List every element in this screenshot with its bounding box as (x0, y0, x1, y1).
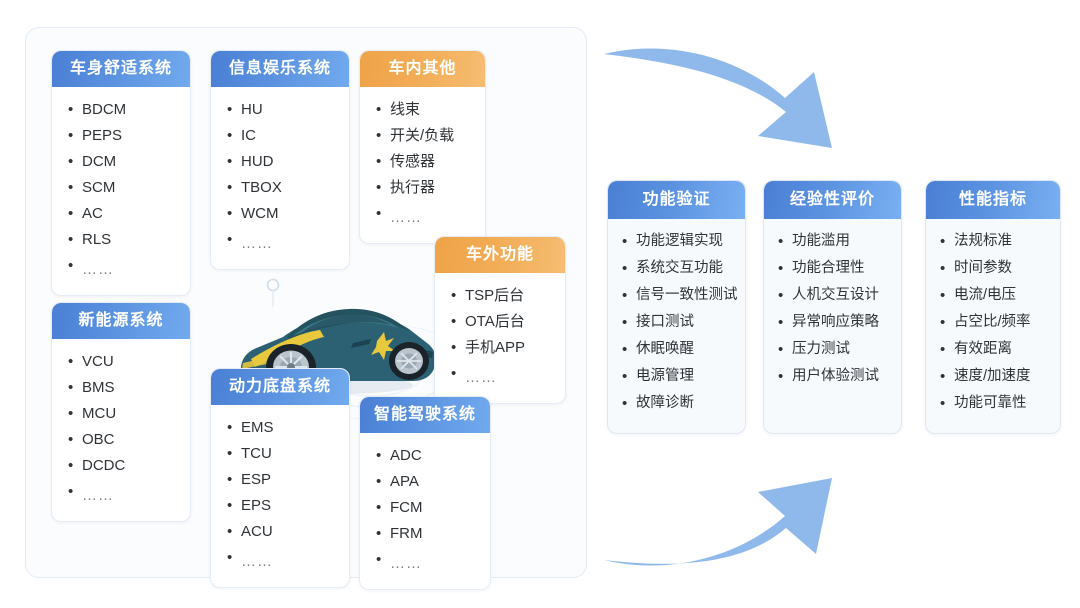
card-function-verification[interactable]: 功能验证 功能逻辑实现 系统交互功能 信号一致性测试 接口测试 休眠唤醒 电源管… (607, 180, 746, 434)
card-title-intelligent-driving: 智能驾驶系统 (360, 397, 490, 433)
list-item: 法规标准 (938, 228, 1060, 255)
list-item: 异常响应策略 (776, 309, 901, 336)
card-body-list-experiential-evaluation: 功能滥用 功能合理性 人机交互设计 异常响应策略 压力测试 用户体验测试 (764, 219, 901, 402)
list-item: 开关/负载 (374, 123, 485, 149)
list-item: 系统交互功能 (620, 255, 745, 282)
list-item: FRM (374, 521, 490, 547)
card-title-function-verification: 功能验证 (608, 181, 745, 219)
list-item: 传感器 (374, 149, 485, 175)
list-item: OTA后台 (449, 309, 565, 335)
list-item: HUD (225, 149, 349, 175)
card-title-powertrain-chassis: 动力底盘系统 (211, 369, 349, 405)
list-item: 功能逻辑实现 (620, 228, 745, 255)
card-in-car-other[interactable]: 车内其他 线束 开关/负载 传感器 执行器 …… (359, 50, 486, 244)
list-item-ellipsis: …… (449, 361, 565, 391)
list-item: 手机APP (449, 335, 565, 361)
list-item: 执行器 (374, 175, 485, 201)
list-item: BDCM (66, 97, 190, 123)
list-item: PEPS (66, 123, 190, 149)
list-item: HU (225, 97, 349, 123)
curved-arrow-top-right-icon (600, 32, 870, 162)
list-item: 线束 (374, 97, 485, 123)
list-item: VCU (66, 349, 190, 375)
card-title-outside-car-function: 车外功能 (435, 237, 565, 273)
card-body-list-function-verification: 功能逻辑实现 系统交互功能 信号一致性测试 接口测试 休眠唤醒 电源管理 故障诊… (608, 219, 745, 429)
list-item: ACU (225, 519, 349, 545)
list-item: TCU (225, 441, 349, 467)
list-item: FCM (374, 495, 490, 521)
list-item: 用户体验测试 (776, 363, 901, 390)
card-body-list-powertrain-chassis: EMS TCU ESP EPS ACU …… (211, 405, 349, 587)
vehicle-system-panel: 车身舒适系统 BDCM PEPS DCM SCM AC RLS …… 信息娱乐系… (25, 27, 587, 578)
card-body-comfort[interactable]: 车身舒适系统 BDCM PEPS DCM SCM AC RLS …… (51, 50, 191, 296)
list-item: 故障诊断 (620, 390, 745, 417)
card-title-performance-metrics: 性能指标 (926, 181, 1060, 219)
list-item-ellipsis: …… (374, 201, 485, 231)
list-item: TBOX (225, 175, 349, 201)
list-item: 速度/加速度 (938, 363, 1060, 390)
list-item-ellipsis: …… (66, 479, 190, 509)
list-item: 电源管理 (620, 363, 745, 390)
card-body-list-new-energy: VCU BMS MCU OBC DCDC …… (52, 339, 190, 521)
list-item: AC (66, 201, 190, 227)
card-new-energy[interactable]: 新能源系统 VCU BMS MCU OBC DCDC …… (51, 302, 191, 522)
card-body-list-intelligent-driving: ADC APA FCM FRM …… (360, 433, 490, 589)
list-item: APA (374, 469, 490, 495)
list-item: IC (225, 123, 349, 149)
list-item: DCDC (66, 453, 190, 479)
list-item: EPS (225, 493, 349, 519)
list-item: 休眠唤醒 (620, 336, 745, 363)
list-item: 时间参数 (938, 255, 1060, 282)
card-performance-metrics[interactable]: 性能指标 法规标准 时间参数 电流/电压 占空比/频率 有效距离 速度/加速度 … (925, 180, 1061, 434)
list-item: 占空比/频率 (938, 309, 1060, 336)
list-item-ellipsis: …… (66, 253, 190, 283)
list-item: 人机交互设计 (776, 282, 901, 309)
card-experiential-evaluation[interactable]: 经验性评价 功能滥用 功能合理性 人机交互设计 异常响应策略 压力测试 用户体验… (763, 180, 902, 434)
card-body-list-infotainment: HU IC HUD TBOX WCM …… (211, 87, 349, 269)
list-item: 电流/电压 (938, 282, 1060, 309)
card-outside-car-function[interactable]: 车外功能 TSP后台 OTA后台 手机APP …… (434, 236, 566, 404)
list-item: EMS (225, 415, 349, 441)
list-item: SCM (66, 175, 190, 201)
list-item: 有效距离 (938, 336, 1060, 363)
list-item: WCM (225, 201, 349, 227)
list-item: 功能合理性 (776, 255, 901, 282)
card-infotainment[interactable]: 信息娱乐系统 HU IC HUD TBOX WCM …… (210, 50, 350, 270)
list-item: OBC (66, 427, 190, 453)
card-title-body-comfort: 车身舒适系统 (52, 51, 190, 87)
list-item-ellipsis: …… (374, 547, 490, 577)
list-item: DCM (66, 149, 190, 175)
list-item: ADC (374, 443, 490, 469)
card-body-list-body-comfort: BDCM PEPS DCM SCM AC RLS …… (52, 87, 190, 295)
card-intelligent-driving[interactable]: 智能驾驶系统 ADC APA FCM FRM …… (359, 396, 491, 590)
card-title-new-energy: 新能源系统 (52, 303, 190, 339)
list-item-ellipsis: …… (225, 545, 349, 575)
list-item: 功能滥用 (776, 228, 901, 255)
card-powertrain-chassis[interactable]: 动力底盘系统 EMS TCU ESP EPS ACU …… (210, 368, 350, 588)
card-body-list-in-car-other: 线束 开关/负载 传感器 执行器 …… (360, 87, 485, 243)
list-item: 接口测试 (620, 309, 745, 336)
card-title-experiential-evaluation: 经验性评价 (764, 181, 901, 219)
list-item: RLS (66, 227, 190, 253)
list-item: 功能可靠性 (938, 390, 1060, 417)
list-item: TSP后台 (449, 283, 565, 309)
card-body-list-performance-metrics: 法规标准 时间参数 电流/电压 占空比/频率 有效距离 速度/加速度 功能可靠性 (926, 219, 1060, 429)
card-body-list-outside-car-function: TSP后台 OTA后台 手机APP …… (435, 273, 565, 403)
card-title-infotainment: 信息娱乐系统 (211, 51, 349, 87)
list-item: 信号一致性测试 (620, 282, 745, 309)
list-item: ESP (225, 467, 349, 493)
card-title-in-car-other: 车内其他 (360, 51, 485, 87)
list-item: 压力测试 (776, 336, 901, 363)
list-item: BMS (66, 375, 190, 401)
curved-arrow-bottom-right-icon (600, 448, 870, 578)
list-item-ellipsis: …… (225, 227, 349, 257)
list-item: MCU (66, 401, 190, 427)
